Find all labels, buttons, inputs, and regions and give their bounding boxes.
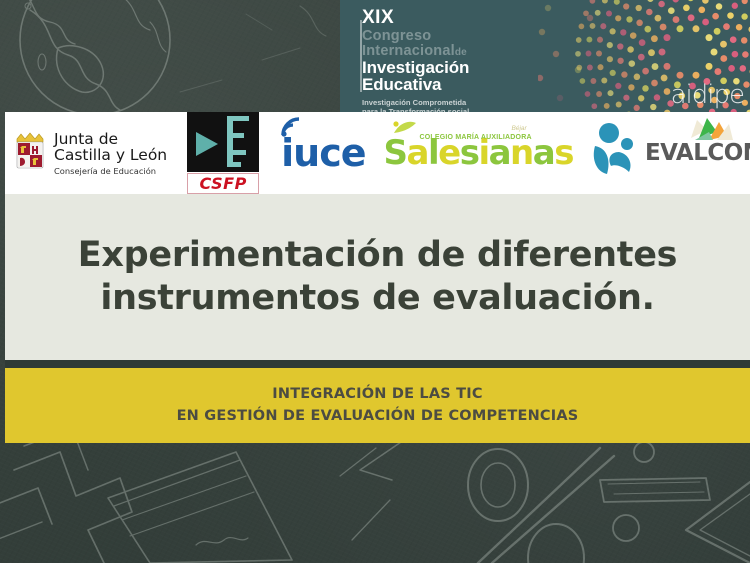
congress-banner: XIX Congreso Internacionalde Investigaci… bbox=[340, 0, 750, 112]
iuce-signal-arc-icon bbox=[280, 117, 314, 142]
csfp-play-triangle-icon bbox=[196, 132, 218, 156]
salesianas-wordmark: Salesianas bbox=[384, 136, 573, 170]
page-title-line2: instrumentos de evaluación. bbox=[100, 278, 654, 318]
congress-line3: Investigación bbox=[362, 59, 469, 76]
junta-subtitle: Consejería de Educación bbox=[54, 167, 167, 176]
congress-edition: XIX bbox=[362, 8, 469, 27]
logo-iuce: iuce bbox=[281, 134, 365, 172]
csfp-bar-2 bbox=[227, 133, 244, 138]
salesianas-location: Béjar bbox=[512, 125, 527, 132]
logo-csfp: CSFP bbox=[187, 112, 259, 194]
csfp-bar-4 bbox=[227, 162, 241, 167]
subtitle-line1: INTEGRACIÓN DE LAS TIC bbox=[272, 386, 482, 402]
congress-line2: Internacionalde bbox=[362, 44, 469, 59]
page-title: Experimentación de diferentes instrument… bbox=[78, 234, 677, 319]
csfp-label: CSFP bbox=[187, 173, 259, 194]
sponsor-logo-bar: Junta de Castilla y León Consejería de E… bbox=[5, 112, 750, 194]
page-title-line1: Experimentación de diferentes bbox=[78, 235, 677, 275]
salesianas-leaf-icon bbox=[392, 120, 418, 140]
junta-title-line1: Junta de bbox=[54, 131, 167, 147]
evalcomtic-figure-icon bbox=[589, 122, 641, 185]
congress-line2-text: Internacional bbox=[362, 43, 455, 59]
congress-line1: Congreso bbox=[362, 29, 469, 44]
junta-text-block: Junta de Castilla y León Consejería de E… bbox=[54, 131, 167, 176]
logo-junta-castilla-leon: Junta de Castilla y León Consejería de E… bbox=[13, 130, 167, 177]
panel-divider bbox=[5, 360, 750, 368]
congress-tagline: Investigación Comprometida para la Trans… bbox=[362, 98, 469, 112]
congress-line4: Educativa bbox=[362, 76, 469, 93]
banner-text-block: XIX Congreso Internacionalde Investigaci… bbox=[362, 8, 469, 112]
aidipe-wordmark: aidipe bbox=[671, 80, 744, 110]
congress-tagline-line1: Investigación Comprometida bbox=[362, 98, 469, 107]
csfp-bar-stem bbox=[227, 121, 233, 167]
logo-salesianas: COLEGIO MARÍA AUXILIADORA Béjar Salesian… bbox=[384, 136, 573, 170]
subtitle-line2: EN GESTIÓN DE EVALUACIÓN DE COMPETENCIAS bbox=[177, 408, 579, 424]
salesianas-subtitle: COLEGIO MARÍA AUXILIADORA bbox=[420, 134, 532, 141]
logo-evalcomtic: EVALCOMTIC-CyL bbox=[589, 122, 750, 185]
castilla-leon-coat-of-arms-icon bbox=[13, 130, 47, 177]
congress-line2-suffix: de bbox=[455, 47, 467, 58]
evalcomtic-pinwheel-icon bbox=[687, 116, 735, 147]
junta-title-line2: Castilla y León bbox=[54, 147, 167, 163]
csfp-bar-3 bbox=[227, 150, 246, 155]
subtitle-band: INTEGRACIÓN DE LAS TIC EN GESTIÓN DE EVA… bbox=[5, 368, 750, 443]
csfp-emblem-icon bbox=[187, 112, 259, 172]
subtitle-text: INTEGRACIÓN DE LAS TIC EN GESTIÓN DE EVA… bbox=[177, 384, 579, 426]
slide-canvas: XIX Congreso Internacionalde Investigaci… bbox=[0, 0, 750, 563]
title-panel: Experimentación de diferentes instrument… bbox=[5, 194, 750, 360]
